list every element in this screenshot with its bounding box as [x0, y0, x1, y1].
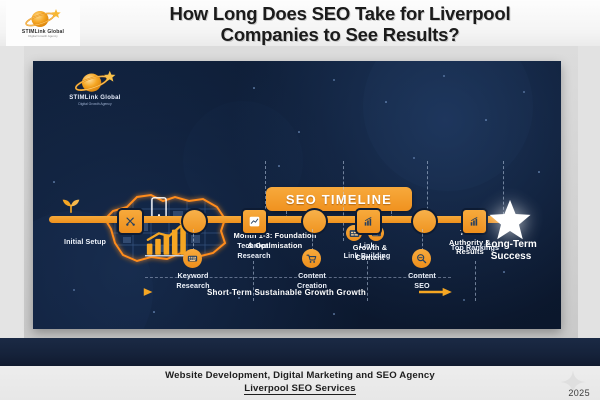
growth-strip-top-divider [145, 277, 451, 278]
star-burst-icon [488, 199, 532, 241]
stage-right-margin [578, 46, 600, 338]
growth-strip: Short-Term Sustainable Growth Growth [143, 283, 453, 301]
milestone-dash-content-seo [422, 229, 423, 251]
milestone-label-link-building: Link Link Building [328, 241, 406, 260]
seo-timeline-badge: SEO TIMELINE [266, 187, 412, 211]
seo-timeline-infographic: STIMLink Global Digital Growth Agency [33, 61, 561, 329]
milestone-label-technical-research: Technical Research [215, 241, 293, 260]
saturn-planet-star-logo [71, 69, 119, 94]
timeline-node-technical-research[interactable] [181, 208, 208, 235]
infographic-logo-name: STIMLink Global [69, 95, 121, 101]
phase-divider-2 [343, 161, 344, 241]
page-header: STIMLink Global Digital Growth Agency Ho… [0, 0, 600, 46]
scissors-node-icon [125, 216, 136, 227]
keyboard-keyword-icon[interactable] [183, 249, 202, 268]
arrow-right-long-icon [419, 287, 453, 297]
milestone-keyword-line1: Keyword [155, 271, 231, 281]
timeline-node-content-seo-b[interactable] [411, 208, 438, 235]
seedling-sprout-icon [61, 198, 81, 218]
infographic-logo-tagline: Digital Growth Agency [78, 102, 111, 106]
bar-chart-node-icon [363, 216, 374, 227]
timeline-node-top-rankings[interactable] [461, 208, 488, 235]
footer-year: 2025 [568, 388, 590, 398]
footer-link-liverpool-seo-services[interactable]: Liverpool SEO Services [244, 383, 356, 395]
milestone-longterm-line2: Success [467, 251, 555, 263]
line-chart-icon [249, 216, 260, 227]
milestone-dash-content-creation [312, 229, 313, 251]
arrow-right-small-icon [143, 287, 154, 297]
milestone-dash-keyword [193, 229, 194, 251]
brand-logo-tagline: Digital Growth Agency [28, 35, 58, 39]
bar-chart-rising-icon [469, 216, 480, 227]
page-title-line1: How Long Does SEO Take for Liverpool [86, 4, 594, 25]
bottom-dark-strip [0, 338, 600, 366]
growth-strip-label: Short-Term Sustainable Growth Growth [154, 288, 419, 297]
timeline-node-content-seo-a[interactable] [301, 208, 328, 235]
page-title-line2: Companies to See Results? [86, 25, 594, 46]
infographic-logo: STIMLink Global Digital Growth Agency [49, 69, 141, 109]
milestone-label-long-term-success: Long-Term Success [467, 239, 555, 263]
magnifier-search-icon[interactable] [412, 249, 431, 268]
milestone-longterm-line1: Long-Term [467, 239, 555, 251]
milestone-content-seo-line1: Content [388, 271, 456, 281]
milestone-content-creation-line1: Content [276, 271, 348, 281]
stage-left-margin [0, 46, 24, 338]
milestone-technical-line1: Technical [215, 241, 293, 251]
timeline-node-keyword-research[interactable] [117, 208, 144, 235]
milestone-label-initial-setup: Initial Setup [37, 237, 133, 247]
page-footer: Website Development, Digital Marketing a… [0, 366, 600, 400]
milestone-link-line1: Link [328, 241, 406, 251]
footer-line2: Liverpool SEO Services [0, 383, 600, 394]
footer-line1: Website Development, Digital Marketing a… [0, 370, 600, 381]
shopping-cart-icon[interactable] [302, 249, 321, 268]
milestone-dash-top-rankings [475, 261, 476, 301]
milestone-link-line2: Link Building [328, 251, 406, 261]
timeline-node-link-building[interactable] [355, 208, 382, 235]
seo-timeline-badge-label: SEO TIMELINE [286, 192, 392, 207]
screenshot-root: STIMLink Global Digital Growth Agency Ho… [0, 0, 600, 400]
timeline-node-content-creation[interactable] [241, 208, 268, 235]
milestone-technical-line2: Research [215, 251, 293, 261]
saturn-planet-star-logo [23, 7, 63, 29]
page-title: How Long Does SEO Take for Liverpool Com… [86, 4, 594, 45]
brand-logo[interactable]: STIMLink Global Digital Growth Agency [6, 0, 80, 46]
